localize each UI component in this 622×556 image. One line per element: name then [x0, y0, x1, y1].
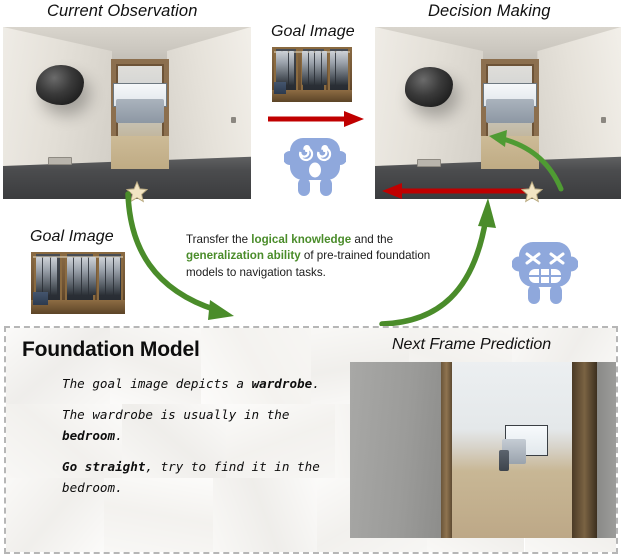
fm-line-3: Go straight, try to find it in the bedro… — [62, 457, 332, 498]
transfer-text-part2: and the — [351, 233, 393, 246]
fm-line-2-bold: bedroom — [62, 428, 115, 443]
fm-line-1: The goal image depicts a wardrobe. — [62, 374, 332, 394]
fm-line-1-text: The goal image depicts a — [62, 376, 252, 391]
fm-line-1-end: . — [312, 376, 320, 391]
fm-line-2-text: The wardrobe is usually in the — [62, 407, 289, 422]
fm-line-1-bold: wardrobe — [252, 376, 313, 391]
panel-title-current-observation: Current Observation — [47, 2, 197, 21]
grinning-robot — [512, 238, 578, 313]
panel-title-next-frame-prediction: Next Frame Prediction — [392, 336, 551, 354]
transfer-highlight-logical-knowledge: logical knowledge — [251, 233, 351, 246]
current-observation-image — [2, 26, 252, 200]
fm-line-3-bold: Go straight — [62, 459, 145, 474]
transfer-text-part1: Transfer the — [186, 233, 251, 246]
foundation-model-title: Foundation Model — [22, 338, 200, 362]
decision-making-image — [374, 26, 622, 200]
dizzy-robot — [284, 134, 346, 205]
goal-image-top — [272, 47, 352, 102]
panel-title-decision-making: Decision Making — [428, 2, 551, 21]
panel-title-goal-image-top: Goal Image — [271, 23, 355, 41]
next-frame-prediction-image — [350, 362, 618, 538]
goal-image-mid — [31, 252, 125, 314]
fm-line-2-end: . — [115, 428, 123, 443]
panel-title-goal-image-mid: Goal Image — [30, 228, 114, 246]
fm-line-2: The wardrobe is usually in the bedroom. — [62, 405, 332, 446]
red-arrow-right — [268, 110, 364, 128]
transfer-description: Transfer the logical knowledge and the g… — [186, 232, 436, 281]
foundation-model-panel: Foundation Model The goal image depicts … — [4, 326, 618, 554]
foundation-model-output: The goal image depicts a wardrobe. The w… — [62, 374, 332, 509]
transfer-highlight-generalization-ability: generalization ability — [186, 249, 301, 262]
